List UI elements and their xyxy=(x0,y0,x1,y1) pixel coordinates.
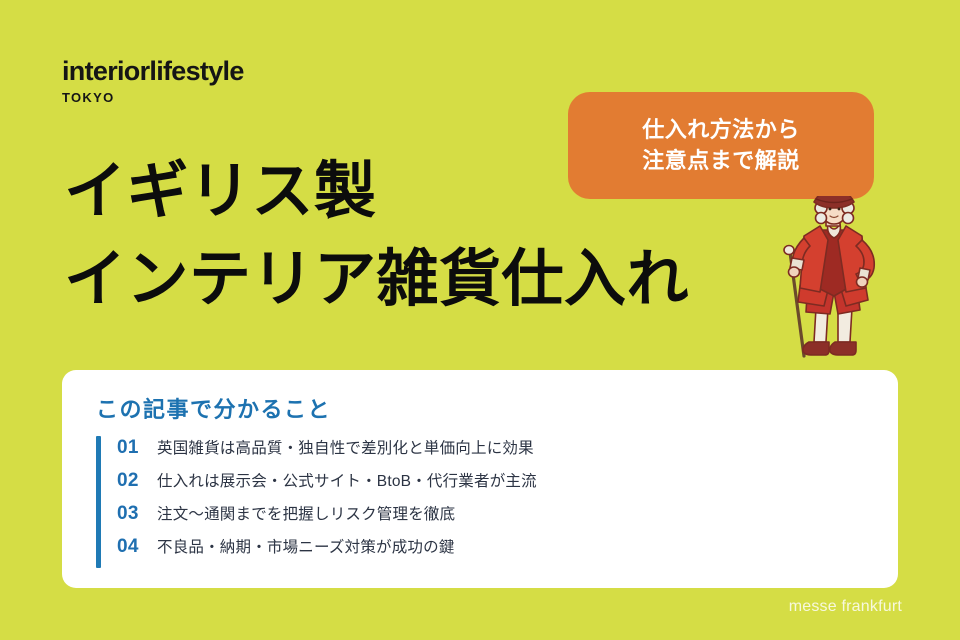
poster-canvas: interiorlifestyle TOKYO 仕入れ方法から 注意点まで解説 … xyxy=(0,0,960,640)
list-item-number: 04 xyxy=(117,536,157,558)
badge-line-1: 仕入れ方法から xyxy=(642,117,800,143)
headline-line-2: インテリア雑貨仕入れ xyxy=(64,236,689,324)
list-item-number: 01 xyxy=(117,437,157,459)
list-item-label: 注文〜通関までを把握しリスク管理を徹底 xyxy=(157,502,455,524)
takeaways-list: 01 英国雑貨は高品質・独自性で差別化と単価向上に効果 02 仕入れは展示会・公… xyxy=(96,436,866,568)
list-item: 02 仕入れは展示会・公式サイト・BtoB・代行業者が主流 xyxy=(117,469,866,502)
card-title: この記事で分かること xyxy=(96,392,331,424)
list-items-container: 01 英国雑貨は高品質・独自性で差別化と単価向上に効果 02 仕入れは展示会・公… xyxy=(117,436,866,568)
list-item: 03 注文〜通関までを把握しリスク管理を徹底 xyxy=(117,502,866,535)
list-item-label: 英国雑貨は高品質・独自性で差別化と単価向上に効果 xyxy=(157,436,534,458)
page-title: イギリス製 インテリア雑貨仕入れ xyxy=(64,148,689,324)
list-item-label: 不良品・納期・市場ニーズ対策が成功の鍵 xyxy=(157,535,455,557)
brand-name: interiorlifestyle xyxy=(62,58,244,85)
brand-sub: TOKYO xyxy=(62,91,244,104)
list-item-number: 02 xyxy=(117,470,157,492)
list-item: 01 英国雑貨は高品質・独自性で差別化と単価向上に効果 xyxy=(117,436,866,469)
summary-card: この記事で分かること 01 英国雑貨は高品質・独自性で差別化と単価向上に効果 0… xyxy=(62,370,898,588)
headline-line-1: イギリス製 xyxy=(64,148,689,236)
british-gentleman-icon xyxy=(768,196,900,368)
list-accent-bar xyxy=(96,436,101,568)
organizer-label: messe frankfurt xyxy=(789,598,902,616)
list-item-label: 仕入れは展示会・公式サイト・BtoB・代行業者が主流 xyxy=(157,469,537,491)
brand-logo: interiorlifestyle TOKYO xyxy=(62,58,244,104)
list-item: 04 不良品・納期・市場ニーズ対策が成功の鍵 xyxy=(117,535,866,568)
list-item-number: 03 xyxy=(117,503,157,525)
